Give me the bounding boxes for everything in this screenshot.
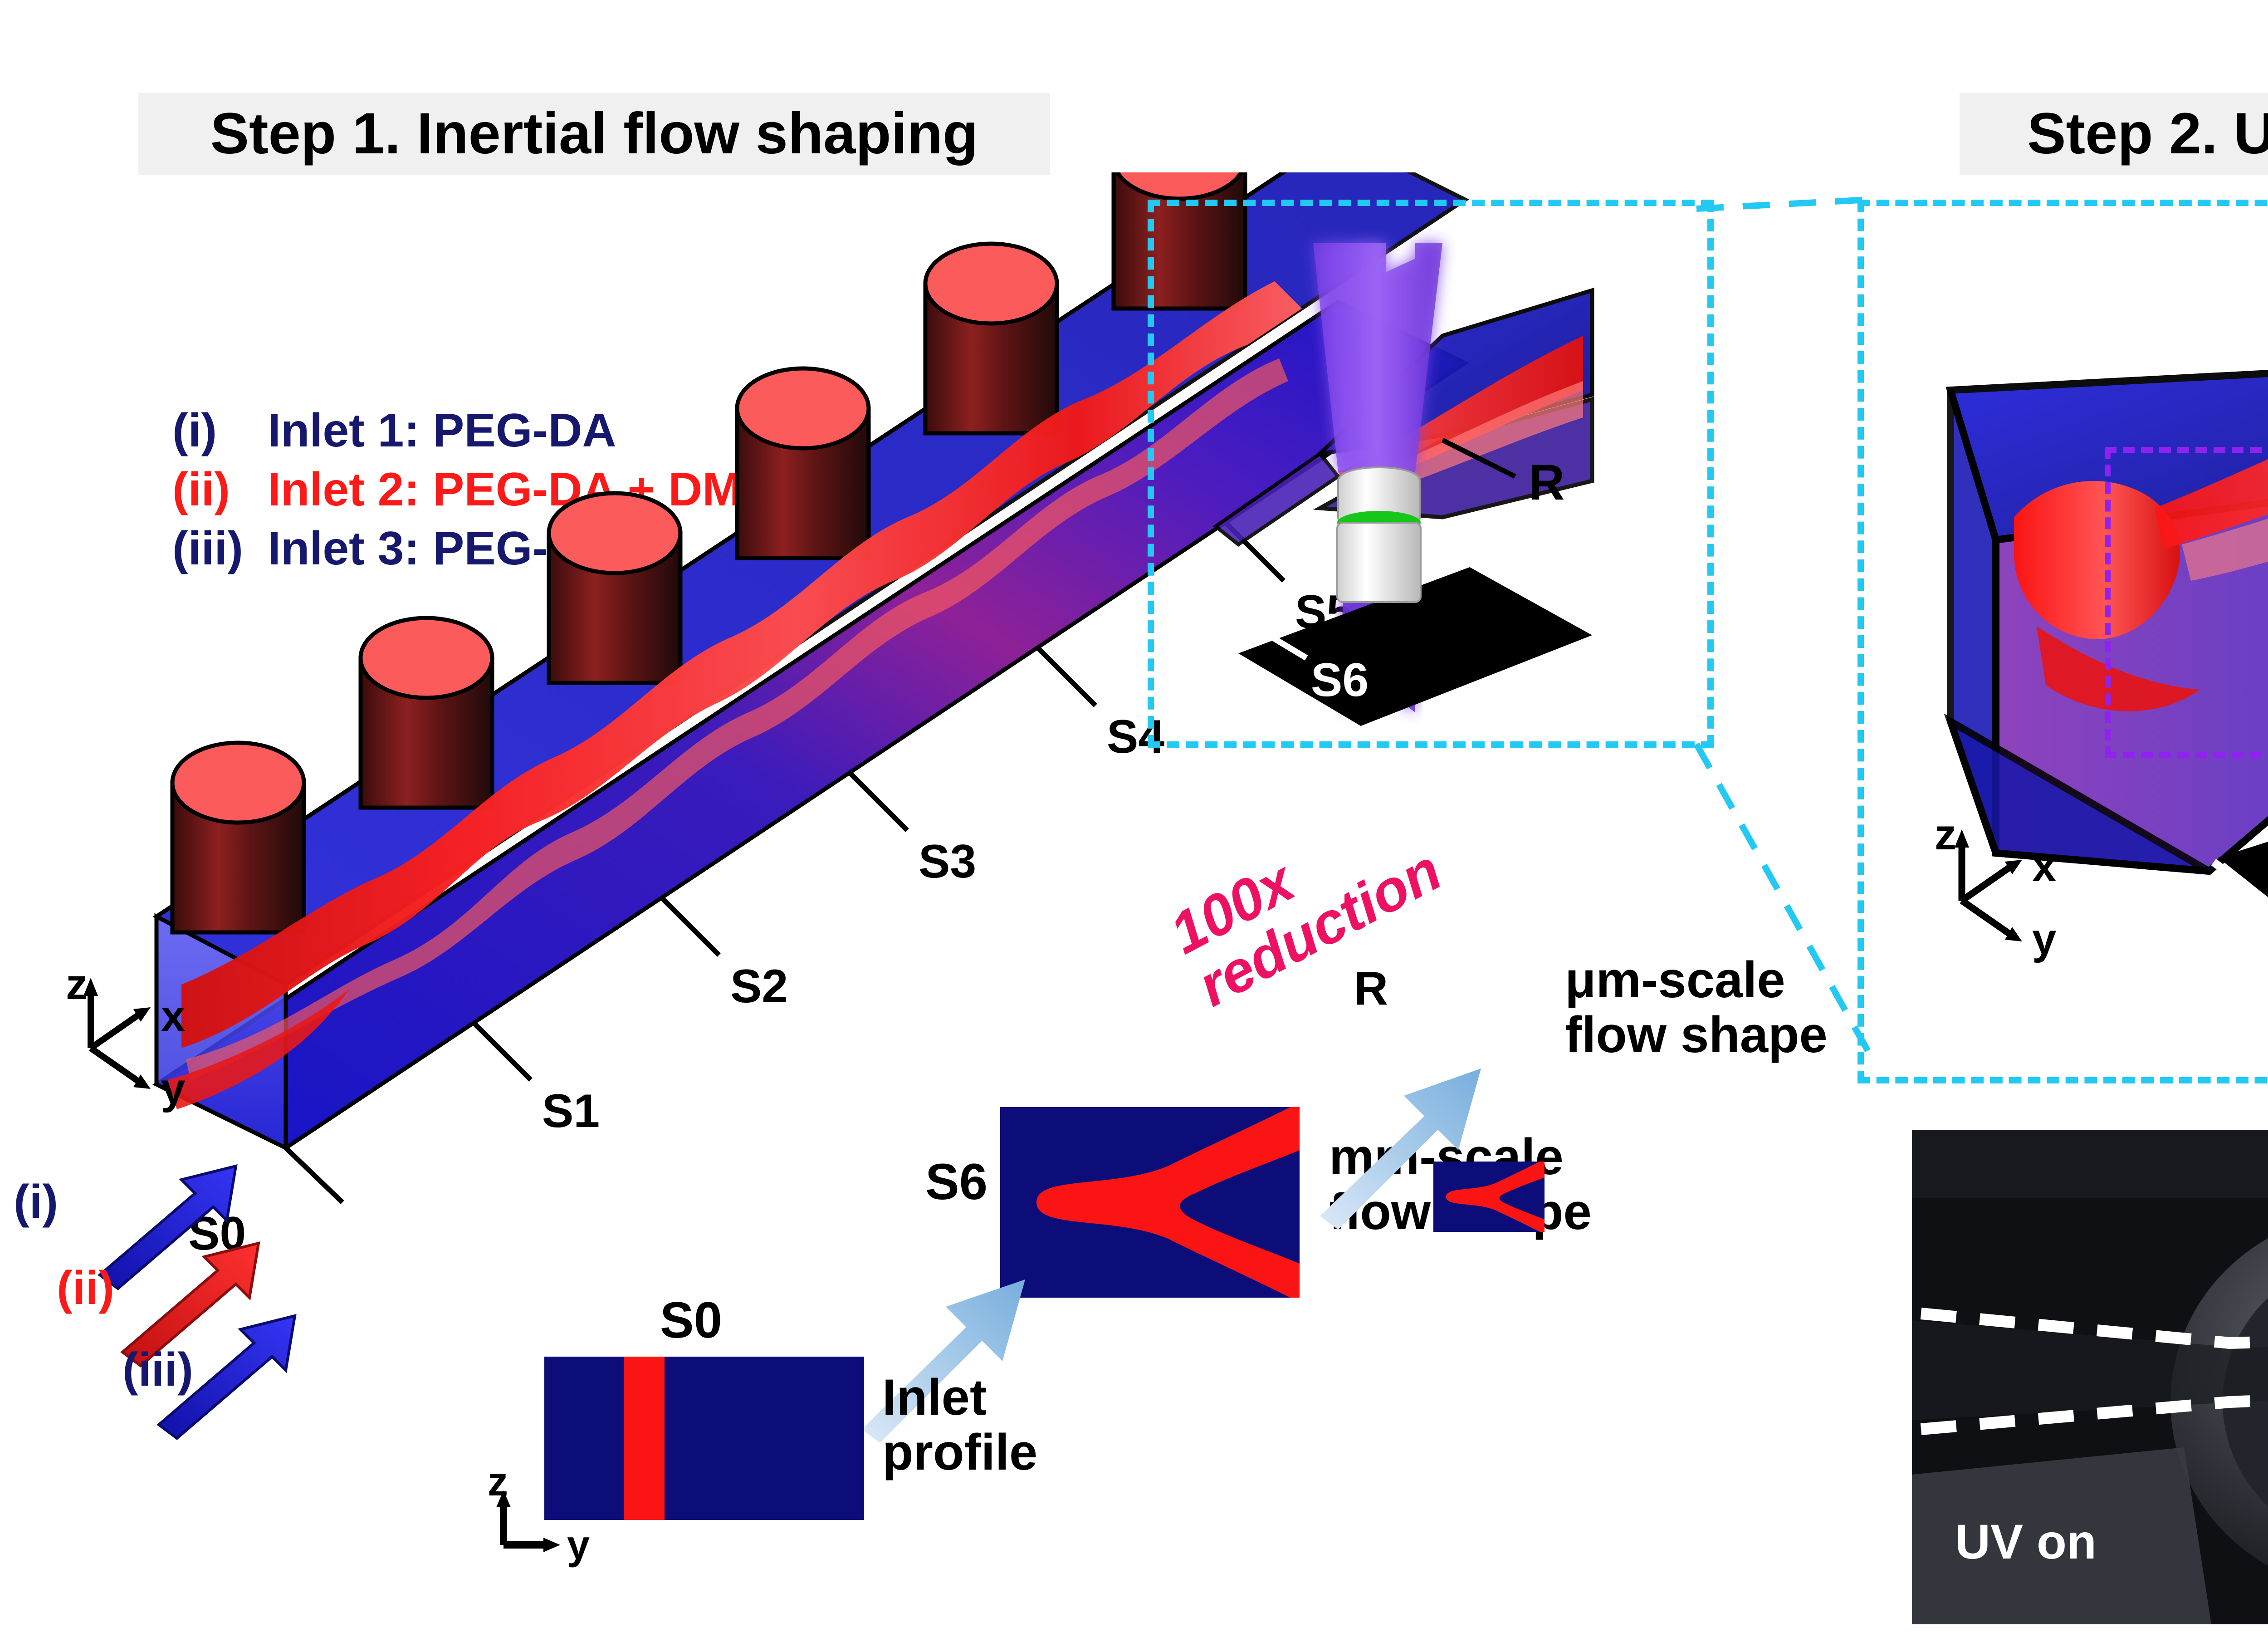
- step2-title: Step 2. UV polymerization: [1960, 93, 2268, 175]
- step1-title: Step 1. Inertial flow shaping: [138, 93, 1050, 175]
- um-caption-line-2: flow shape: [1565, 1008, 1828, 1063]
- um-caption-line-1: μm-scale: [1565, 953, 1828, 1008]
- inlet-caption-line-1: Inlet: [882, 1370, 1037, 1425]
- step1-axis-label-x: x: [161, 991, 185, 1041]
- inlet-arrow-1: [100, 1166, 236, 1289]
- inlet-caption-line-2: profile: [882, 1425, 1037, 1480]
- inlet-arrow-label-ii: (ii): [57, 1261, 114, 1315]
- inlet-profile-caption: Inlet profile: [882, 1370, 1037, 1480]
- step2-axis-label-y: y: [2032, 914, 2056, 964]
- step2-axis-label-x: x: [2032, 842, 2056, 892]
- step1-axis-label-y: y: [161, 1064, 185, 1114]
- step2-axis-label-z: z: [1935, 810, 1956, 860]
- inlet-profile-label-s0: S0: [660, 1291, 722, 1349]
- uv-on-photo-caption: UV on: [1955, 1513, 2097, 1570]
- inlet-profile-red-stream: [624, 1357, 665, 1520]
- inlet-profile-axis-label-y: y: [567, 1522, 590, 1569]
- section-label-s2: S2: [730, 960, 788, 1014]
- inlet-arrow-label-iii: (iii): [122, 1343, 193, 1397]
- figure-canvas: Step 1. Inertial flow shaping Step 2. UV…: [0, 0, 2268, 1647]
- step2-particle-callout-box: [2105, 447, 2268, 758]
- inlet-profile-axis-label-z: z: [488, 1459, 508, 1505]
- uv-on-macro-photo: UV on: [1912, 1130, 2268, 1624]
- arrow-mm-to-um: [1311, 1039, 1492, 1230]
- um-shape-label-r: R: [1354, 962, 1388, 1016]
- step1-zoom-callout-box: [1148, 200, 1714, 748]
- step1-axis-label-z: z: [66, 960, 88, 1010]
- mm-shape-label-s6: S6: [925, 1152, 987, 1211]
- inlet-arrow-label-i: (i): [14, 1175, 58, 1229]
- section-label-s3: S3: [919, 835, 976, 889]
- um-scale-caption: μm-scale flow shape: [1565, 953, 1828, 1063]
- mm-scale-flow-shape: [1000, 1107, 1300, 1298]
- section-label-s1: S1: [542, 1084, 600, 1138]
